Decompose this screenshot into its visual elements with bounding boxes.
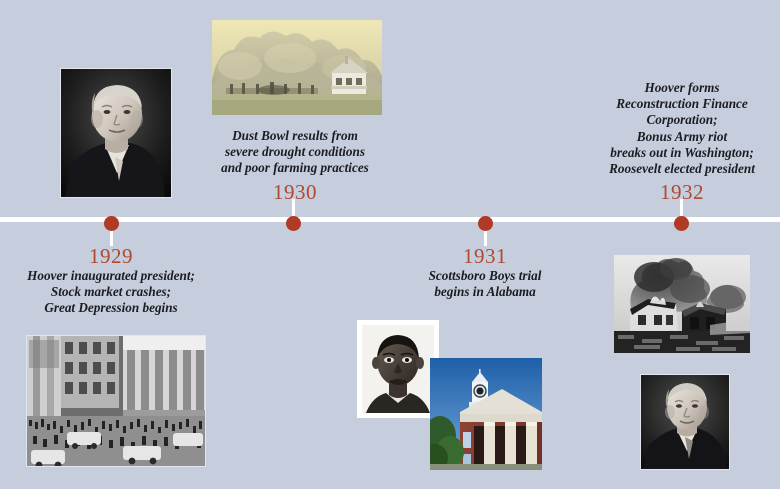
alabama-courthouse-image [430,358,542,470]
caption-line: Hoover forms [586,80,778,96]
timeline-infographic: 1929 Hoover inaugurated president; Stock… [0,0,780,489]
caption-line: Scottsboro Boys trial [396,268,574,284]
caption-line: severe drought conditions [196,144,394,160]
event-caption-1931: Scottsboro Boys trial begins in Alabama [396,268,574,300]
event-block-1930: Dust Bowl results from severe drought co… [196,128,394,204]
herbert-hoover-portrait-image [61,69,171,197]
timeline-node-1932[interactable] [674,216,689,231]
event-block-1931: 1931 Scottsboro Boys trial begins in Ala… [396,244,574,300]
caption-line: Great Depression begins [2,300,220,316]
caption-line: Bonus Army riot [586,129,778,145]
herbert-hoover-portrait [60,68,172,198]
dust-bowl-storm-photo [212,20,382,115]
event-caption-1929: Hoover inaugurated president; Stock mark… [2,268,220,317]
dust-bowl-storm-image [212,20,382,115]
timeline-node-1929[interactable] [104,216,119,231]
caption-line: Reconstruction Finance [586,96,778,112]
wall-street-crowd-photo [26,335,206,467]
bonus-army-camp-burning-image [614,255,750,353]
event-caption-1932: Hoover forms Reconstruction Finance Corp… [586,80,778,177]
event-block-1929: 1929 Hoover inaugurated president; Stock… [2,244,220,317]
scottsboro-boy-portrait-image [362,325,434,413]
caption-line: Stock market crashes; [2,284,220,300]
event-caption-1930: Dust Bowl results from severe drought co… [196,128,394,177]
caption-line: Dust Bowl results from [196,128,394,144]
event-block-1932: Hoover forms Reconstruction Finance Corp… [586,80,778,204]
scottsboro-boy-portrait [357,320,439,418]
franklin-roosevelt-portrait-image [641,375,729,469]
alabama-courthouse-photo [430,358,542,470]
caption-line: begins in Alabama [396,284,574,300]
caption-line: Roosevelt elected president [586,161,778,177]
event-year-1930: 1930 [196,180,394,204]
timeline-node-1931[interactable] [478,216,493,231]
wall-street-crowd-image [27,336,205,466]
caption-line: Corporation; [586,112,778,128]
event-year-1929: 1929 [2,244,220,268]
timeline-node-1930[interactable] [286,216,301,231]
caption-line: and poor farming practices [196,160,394,176]
franklin-roosevelt-portrait [640,374,730,470]
caption-line: breaks out in Washington; [586,145,778,161]
caption-line: Hoover inaugurated president; [2,268,220,284]
event-year-1931: 1931 [396,244,574,268]
bonus-army-camp-burning-photo [614,255,750,353]
